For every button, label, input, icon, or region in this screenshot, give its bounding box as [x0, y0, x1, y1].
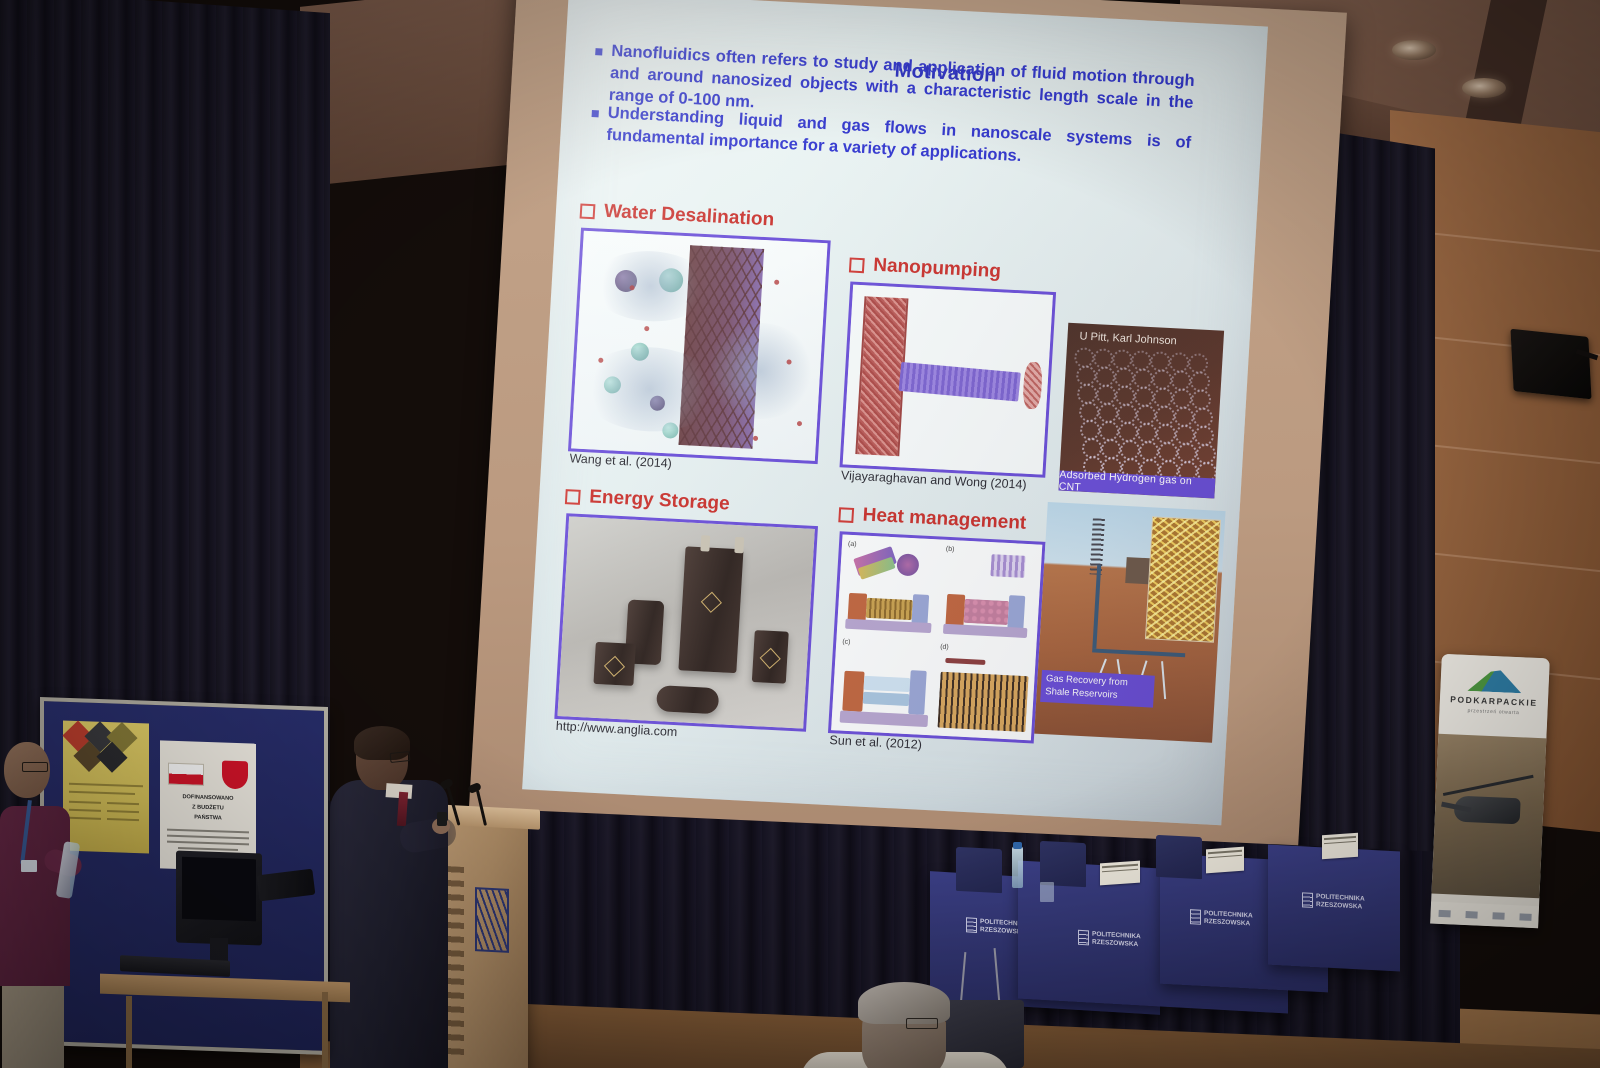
rollup-banner: PODKARPACKIE przestrzeń otwarta — [1430, 654, 1550, 928]
politechnika-logo-icon — [475, 887, 509, 953]
politechnika-logo-icon — [1302, 892, 1313, 908]
table-logo: POLITECHNIKA RZESZOWSKA — [1302, 892, 1365, 910]
image-energy-storage — [554, 513, 818, 732]
chair — [1156, 835, 1202, 879]
auditorium-scene: Motivation Nanofluidics often refers to … — [0, 0, 1600, 1068]
subfigure-label: (b) — [946, 546, 955, 553]
table-logo: POLITECHNIKA RZESZOWSKA — [1078, 930, 1141, 949]
poland-emblem-icon — [222, 760, 248, 789]
square-bullet-icon — [592, 110, 599, 117]
monitor-screen — [182, 857, 256, 922]
table-logo-line2: RZESZOWSKA — [1204, 917, 1250, 926]
name-card — [1100, 861, 1140, 886]
square-bullet-icon — [595, 48, 602, 55]
poland-flag-icon — [168, 763, 204, 786]
eyeglasses-icon — [906, 1018, 938, 1029]
rollup-photo — [1431, 734, 1546, 899]
image-heat-management: (a) (b) (c) — [828, 531, 1046, 743]
panel-table: POLITECHNIKA RZESZOWSKA — [1268, 845, 1400, 972]
name-card — [1206, 847, 1244, 874]
image-nanopumping — [839, 282, 1056, 478]
loudspeaker-icon — [1510, 329, 1591, 400]
drinking-glass — [1040, 882, 1054, 902]
chair — [956, 847, 1002, 893]
checkbox-bullet-icon — [838, 507, 854, 523]
rollup-footer-logos — [1430, 902, 1539, 929]
cnt-credit: U Pitt, Karl Johnson — [1079, 330, 1177, 347]
checkbox-bullet-icon — [580, 203, 596, 219]
projection-screen: Motivation Nanofluidics often refers to … — [467, 0, 1347, 881]
rollup-title: PODKARPACKIE — [1440, 694, 1548, 709]
section-heading-nanopumping: Nanopumping — [849, 253, 1002, 283]
section-label: Water Desalination — [603, 201, 774, 232]
downlight-icon — [1392, 40, 1436, 60]
checkbox-bullet-icon — [849, 257, 865, 273]
subfigure-label: (a) — [848, 541, 857, 548]
image-water-desalination — [568, 228, 831, 464]
checkbox-bullet-icon — [565, 489, 581, 505]
helicopter-rotor-icon — [1443, 775, 1534, 796]
podkarpackie-logo-icon — [1467, 669, 1522, 693]
presentation-slide: Motivation Nanofluidics often refers to … — [522, 0, 1268, 825]
politechnika-logo-icon — [1190, 909, 1201, 925]
table-logo: POLITECHNIKA RZESZOWSKA — [1190, 909, 1253, 927]
image-shale-gas-recovery: Gas Recovery from Shale Reservoirs — [1034, 502, 1225, 743]
image-adsorbed-hydrogen-cnt: U Pitt, Karl Johnson Adsorbed Hydrogen g… — [1059, 323, 1225, 499]
presentation-remote[interactable] — [437, 812, 447, 826]
downlight-icon — [1462, 78, 1506, 98]
subfigure-label: (c) — [842, 639, 851, 646]
water-bottle — [1012, 846, 1023, 888]
shale-banner: Gas Recovery from Shale Reservoirs — [1040, 670, 1155, 707]
rollup-subtitle: przestrzeń otwarta — [1439, 707, 1547, 718]
politechnika-logo-icon — [966, 917, 977, 933]
funding-notice-line3: PAŃSTWA — [160, 812, 256, 824]
table-logo-line2: RZESZOWSKA — [1316, 901, 1362, 910]
rollup-header: PODKARPACKIE przestrzeń otwarta — [1438, 654, 1549, 739]
section-label: Nanopumping — [873, 255, 1002, 284]
conference-poster — [63, 720, 149, 853]
eyeglasses-icon — [390, 751, 411, 763]
monitor[interactable] — [176, 850, 262, 945]
section-heading-water-desalination: Water Desalination — [579, 200, 774, 232]
bottle-cap — [1013, 842, 1022, 849]
section-heading-heat-management: Heat management — [838, 503, 1027, 535]
cnt-banner: Adsorbed Hydrogen gas on CNT — [1059, 471, 1216, 499]
badge — [21, 860, 37, 872]
chair — [1040, 841, 1086, 887]
section-label: Energy Storage — [589, 486, 731, 515]
table-logo-line2: RZESZOWSKA — [1092, 938, 1138, 948]
section-label: Heat management — [862, 504, 1027, 534]
eyeglasses-icon — [22, 762, 48, 772]
section-heading-energy-storage: Energy Storage — [565, 485, 731, 515]
subfigure-label: (d) — [940, 644, 949, 651]
politechnika-logo-icon — [1078, 930, 1089, 946]
name-card — [1322, 833, 1358, 860]
